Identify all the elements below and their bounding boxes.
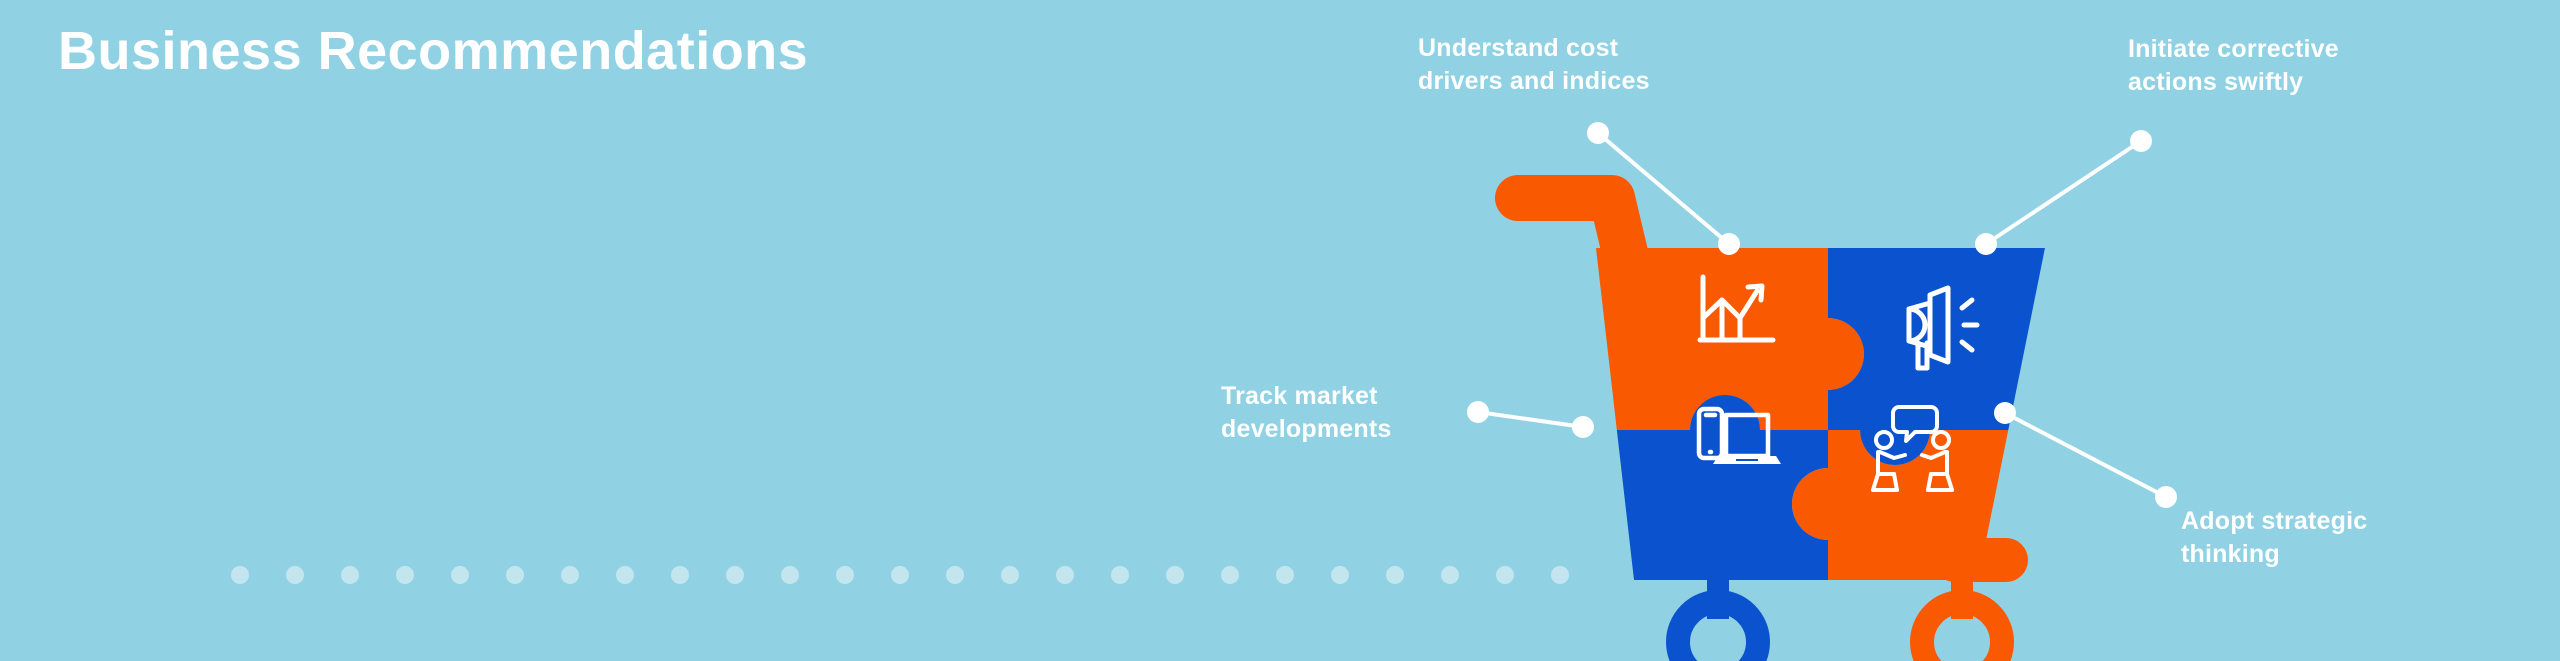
infographic-canvas: Business Recommendations Understand cost… [0, 0, 2560, 661]
cart-wheel-right [1922, 575, 2002, 661]
page-title: Business Recommendations [58, 22, 808, 81]
shopping-cart-puzzle-graphic [0, 0, 2560, 661]
callout-label-understand-cost-drivers[interactable]: Understand cost drivers and indices [1418, 32, 1650, 98]
callout-label-initiate-corrective-actions[interactable]: Initiate corrective actions swiftly [2128, 33, 2339, 99]
cart-wheel-left [1678, 575, 1758, 661]
callout-label-track-market-developments[interactable]: Track market developments [1221, 380, 1392, 446]
callout-label-adopt-strategic-thinking[interactable]: Adopt strategic thinking [2181, 505, 2367, 571]
